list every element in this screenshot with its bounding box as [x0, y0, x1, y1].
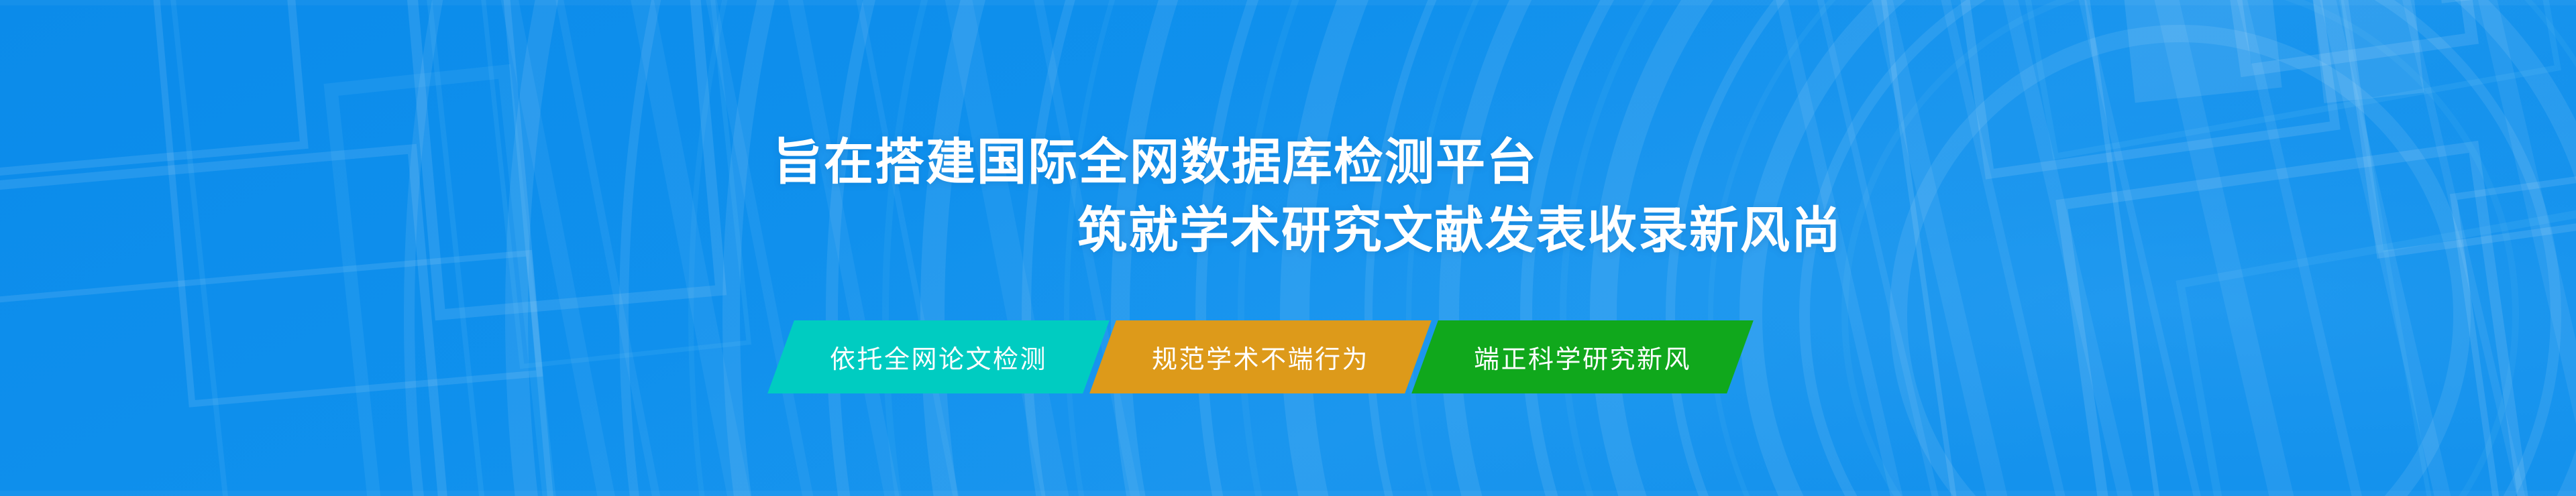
headline-group: 旨在搭建国际全网数据库检测平台 筑就学术研究文献发表收录新风尚 [0, 0, 2576, 496]
feature-badge-integrity-label: 端正科学研究新风 [1474, 338, 1691, 375]
promo-banner: 旨在搭建国际全网数据库检测平台 筑就学术研究文献发表收录新风尚 依托全网论文检测… [0, 0, 2576, 496]
headline-line-1: 旨在搭建国际全网数据库检测平台 [773, 131, 1538, 193]
feature-badge-strip: 依托全网论文检测 规范学术不端行为 端正科学研究新风 [781, 320, 1740, 393]
feature-badge-misconduct[interactable]: 规范学术不端行为 [1089, 320, 1432, 393]
headline-line-2: 筑就学术研究文献发表收录新风尚 [1077, 200, 1842, 261]
feature-badge-misconduct-label: 规范学术不端行为 [1152, 338, 1369, 375]
feature-badge-detection[interactable]: 依托全网论文检测 [767, 320, 1110, 393]
feature-badge-integrity[interactable]: 端正科学研究新风 [1411, 320, 1754, 393]
feature-badge-detection-label: 依托全网论文检测 [830, 338, 1047, 375]
